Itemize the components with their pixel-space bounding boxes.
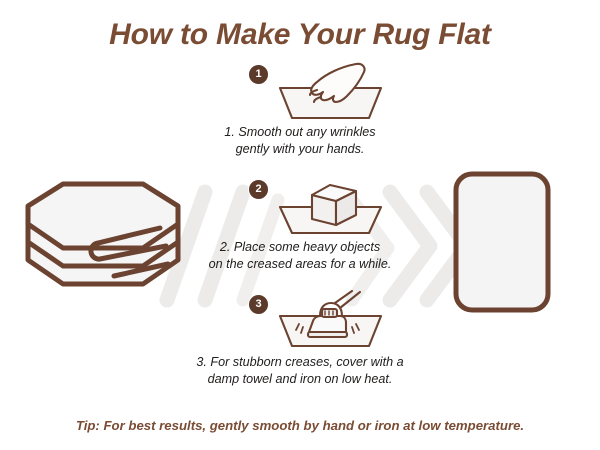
flat-rug-icon — [450, 168, 560, 318]
step-3-caption-line-2: damp towel and iron on low heat. — [150, 371, 450, 388]
infographic-canvas: How to Make Your Rug Flat 1 — [0, 0, 600, 450]
step-2-badge: 2 — [248, 179, 269, 200]
step-1-caption-line-1: 1. Smooth out any wrinkles — [150, 124, 450, 141]
iron-on-rug-icon — [268, 290, 393, 352]
heavy-box-on-rug-icon — [268, 175, 393, 237]
step-item-3: 3 — [150, 290, 450, 405]
tip-text: Tip: For best results, gently smooth by … — [0, 418, 600, 433]
hand-smoothing-rug-icon — [268, 60, 393, 122]
step-3-badge: 3 — [248, 294, 269, 315]
step-2-caption: 2. Place some heavy objects on the creas… — [150, 239, 450, 273]
step-1-badge: 1 — [248, 64, 269, 85]
step-item-2: 2 2. Place some heavy objects on the cre… — [150, 175, 450, 290]
step-1-art-wrap: 1 — [150, 60, 450, 122]
step-3-caption: 3. For stubborn creases, cover with a da… — [150, 354, 450, 388]
step-1-caption-line-2: gently with your hands. — [150, 141, 450, 158]
step-item-1: 1 1. Smooth out any wrinkles gently with… — [150, 60, 450, 175]
step-1-caption: 1. Smooth out any wrinkles gently with y… — [150, 124, 450, 158]
step-2-caption-line-1: 2. Place some heavy objects — [150, 239, 450, 256]
steps-list: 1 1. Smooth out any wrinkles gently with… — [150, 60, 450, 405]
step-3-caption-line-1: 3. For stubborn creases, cover with a — [150, 354, 450, 371]
step-2-art-wrap: 2 — [150, 175, 450, 237]
step-3-art-wrap: 3 — [150, 290, 450, 352]
page-title: How to Make Your Rug Flat — [0, 18, 600, 52]
step-2-caption-line-2: on the creased areas for a while. — [150, 256, 450, 273]
